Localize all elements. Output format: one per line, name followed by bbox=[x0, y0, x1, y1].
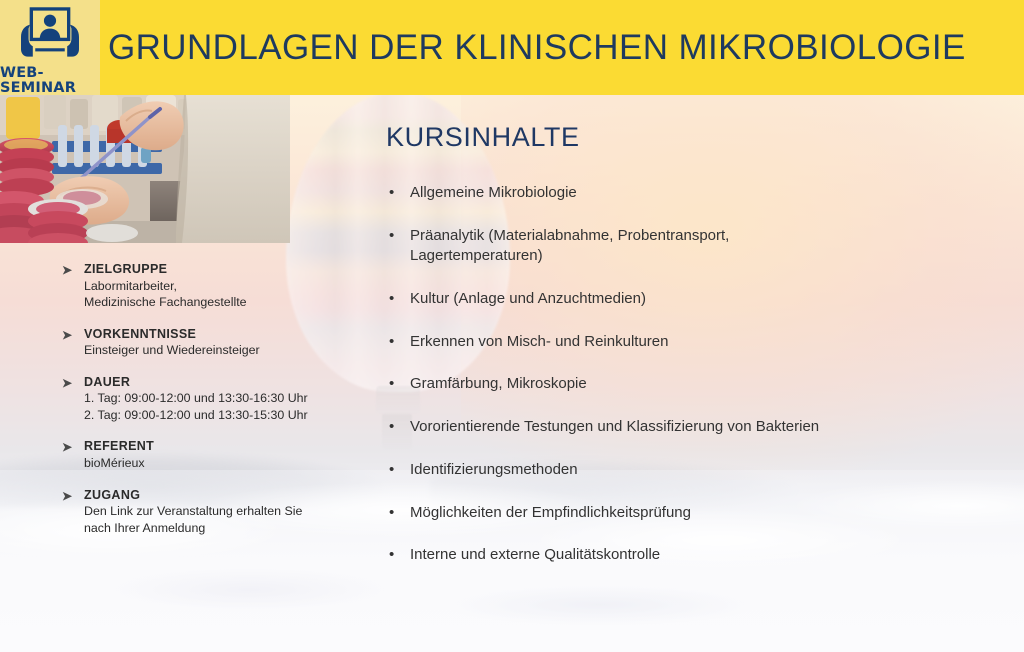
list-item: • Erkennen von Misch- und Reinkulturen bbox=[386, 332, 986, 353]
info-body: Einsteiger und Wiedereinsteiger bbox=[60, 342, 360, 359]
list-item-label-cont: Lagertemperaturen) bbox=[410, 246, 986, 267]
list-item: • Präanalytik (Materialabnahme, Probentr… bbox=[386, 226, 986, 267]
info-block-dauer: ➤ DAUER 1. Tag: 09:00-12:00 und 13:30-16… bbox=[60, 375, 360, 424]
list-item-label: Erkennen von Misch- und Reinkulturen bbox=[410, 332, 986, 353]
info-body: bioMérieux bbox=[60, 455, 360, 472]
bullet-dot-icon: • bbox=[389, 460, 394, 481]
arrow-bullet-icon: ➤ bbox=[62, 376, 72, 391]
info-heading-label: DAUER bbox=[84, 375, 130, 389]
bullet-dot-icon: • bbox=[389, 183, 394, 204]
info-heading-label: REFERENT bbox=[84, 439, 154, 453]
info-heading: ➤ VORKENNTNISSE bbox=[60, 327, 360, 343]
list-item: • Kultur (Anlage und Anzuchtmedien) bbox=[386, 289, 986, 310]
info-line: nach Ihrer Anmeldung bbox=[84, 520, 360, 537]
list-item-label: Allgemeine Mikrobiologie bbox=[410, 183, 986, 204]
course-contents-panel: KURSINHALTE • Allgemeine Mikrobiologie •… bbox=[386, 122, 986, 566]
arrow-bullet-icon: ➤ bbox=[62, 489, 72, 504]
info-body: Labormitarbeiter, Medizinische Fachanges… bbox=[60, 278, 360, 311]
info-block-vorkenntnisse: ➤ VORKENNTNISSE Einsteiger und Wiederein… bbox=[60, 327, 360, 359]
laboratory-photo bbox=[0, 95, 290, 243]
bullet-dot-icon: • bbox=[389, 289, 394, 310]
list-item-label: Vororientierende Testungen und Klassifiz… bbox=[410, 417, 986, 438]
info-heading-label: VORKENNTNISSE bbox=[84, 327, 196, 341]
header-band: WEB-SEMINAR GRUNDLAGEN DER KLINISCHEN MI… bbox=[0, 0, 1024, 95]
arrow-bullet-icon: ➤ bbox=[62, 263, 72, 278]
info-heading-label: ZIELGRUPPE bbox=[84, 262, 167, 276]
web-seminar-logo: WEB-SEMINAR bbox=[0, 0, 100, 95]
info-block-zielgruppe: ➤ ZIELGRUPPE Labormitarbeiter, Medizinis… bbox=[60, 262, 360, 311]
list-item: • Identifizierungsmethoden bbox=[386, 460, 986, 481]
info-heading: ➤ DAUER bbox=[60, 375, 360, 391]
info-line: Labormitarbeiter, bbox=[84, 278, 360, 295]
info-heading: ➤ ZIELGRUPPE bbox=[60, 262, 360, 278]
course-contents-list: • Allgemeine Mikrobiologie • Präanalytik… bbox=[386, 183, 986, 566]
info-body: Den Link zur Veranstaltung erhalten Sie … bbox=[60, 503, 360, 536]
info-block-referent: ➤ REFERENT bioMérieux bbox=[60, 439, 360, 471]
list-item-label: Identifizierungsmethoden bbox=[410, 460, 986, 481]
logo-caption: WEB-SEMINAR bbox=[0, 66, 100, 95]
info-line: Medizinische Fachangestellte bbox=[84, 294, 360, 311]
list-item-label: Gramfärbung, Mikroskopie bbox=[410, 374, 986, 395]
bullet-dot-icon: • bbox=[389, 545, 394, 566]
info-line: bioMérieux bbox=[84, 455, 360, 472]
info-line: Den Link zur Veranstaltung erhalten Sie bbox=[84, 503, 360, 520]
list-item: • Interne und externe Qualitätskontrolle bbox=[386, 545, 986, 566]
arrow-bullet-icon: ➤ bbox=[62, 328, 72, 343]
list-item-label: Interne und externe Qualitätskontrolle bbox=[410, 545, 986, 566]
slide-root: WEB-SEMINAR GRUNDLAGEN DER KLINISCHEN MI… bbox=[0, 0, 1024, 652]
list-item: • Allgemeine Mikrobiologie bbox=[386, 183, 986, 204]
section-title-kursinhalte: KURSINHALTE bbox=[386, 122, 986, 153]
list-item-label: Kultur (Anlage und Anzuchtmedien) bbox=[410, 289, 986, 310]
bullet-dot-icon: • bbox=[389, 417, 394, 438]
hands-holding-screen-with-person-icon bbox=[14, 6, 86, 63]
list-item-label: Möglichkeiten der Empfindlichkeitsprüfun… bbox=[410, 503, 986, 524]
info-line: 1. Tag: 09:00-12:00 und 13:30-16:30 Uhr bbox=[84, 390, 360, 407]
info-heading-label: ZUGANG bbox=[84, 488, 140, 502]
list-item-label: Präanalytik (Materialabnahme, Probentran… bbox=[410, 226, 986, 247]
list-item: • Gramfärbung, Mikroskopie bbox=[386, 374, 986, 395]
bullet-dot-icon: • bbox=[389, 226, 394, 247]
bullet-dot-icon: • bbox=[389, 374, 394, 395]
course-info-list: ➤ ZIELGRUPPE Labormitarbeiter, Medizinis… bbox=[60, 262, 360, 536]
info-line: Einsteiger und Wiedereinsteiger bbox=[84, 342, 360, 359]
info-line: 2. Tag: 09:00-12:00 und 13:30-15:30 Uhr bbox=[84, 407, 360, 424]
bullet-dot-icon: • bbox=[389, 332, 394, 353]
info-heading: ➤ ZUGANG bbox=[60, 488, 360, 504]
page-title: GRUNDLAGEN DER KLINISCHEN MIKROBIOLOGIE bbox=[108, 28, 966, 68]
info-heading: ➤ REFERENT bbox=[60, 439, 360, 455]
info-body: 1. Tag: 09:00-12:00 und 13:30-16:30 Uhr … bbox=[60, 390, 360, 423]
info-block-zugang: ➤ ZUGANG Den Link zur Veranstaltung erha… bbox=[60, 488, 360, 537]
list-item: • Vororientierende Testungen und Klassif… bbox=[386, 417, 986, 438]
arrow-bullet-icon: ➤ bbox=[62, 440, 72, 455]
bullet-dot-icon: • bbox=[389, 503, 394, 524]
list-item: • Möglichkeiten der Empfindlichkeitsprüf… bbox=[386, 503, 986, 524]
